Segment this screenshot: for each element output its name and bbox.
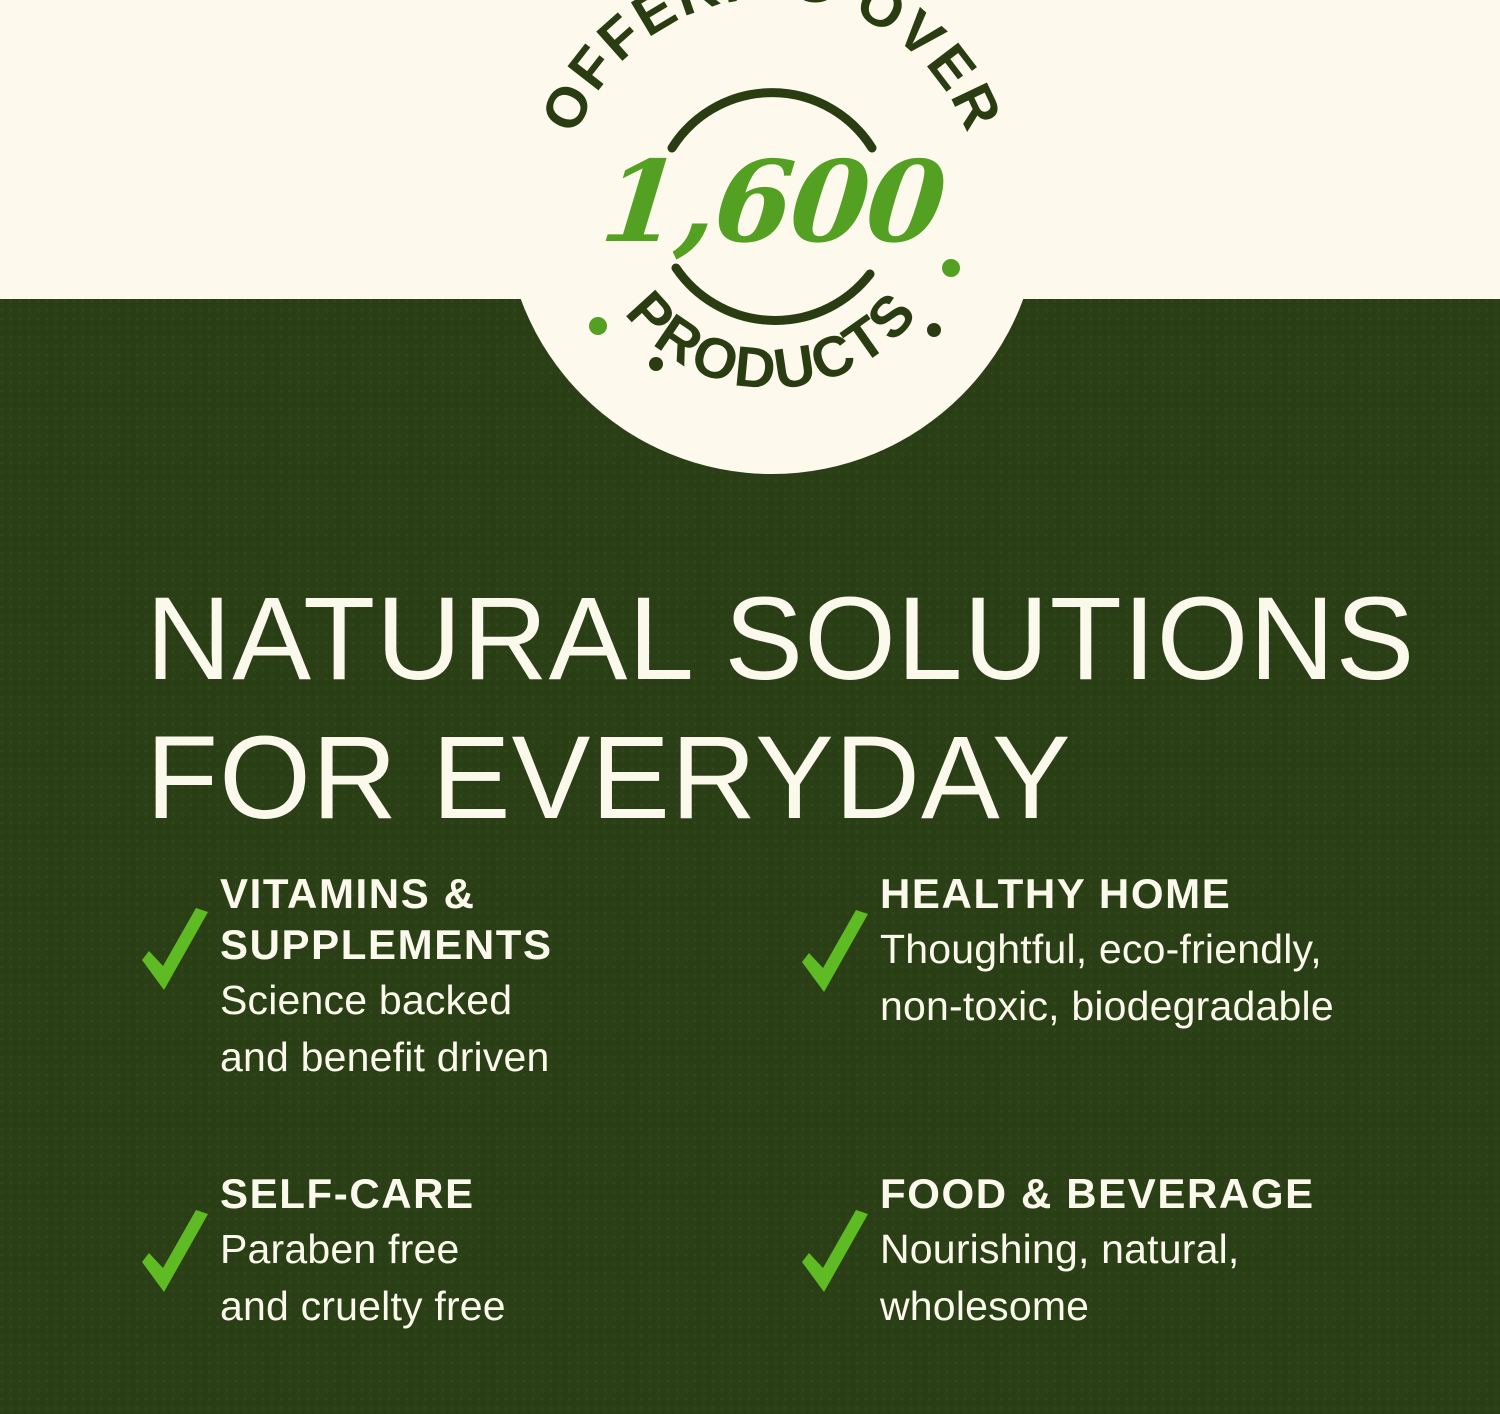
feature-desc-line-2: and benefit driven (220, 1029, 785, 1086)
feature-title-line-1: HEALTHY HOME (880, 870, 1231, 917)
feature-title-line-1: SELF-CARE (220, 1170, 475, 1217)
feature-description: Thoughtful, eco-friendly, non-toxic, bio… (880, 921, 1470, 1034)
feature-desc-line-1: Science backed (220, 972, 785, 1029)
feature-description: Science backed and benefit driven (220, 972, 785, 1085)
check-icon (798, 1208, 872, 1304)
feature-desc-line-2: and cruelty free (220, 1278, 785, 1335)
feature-item-vitamins-supplements: VITAMINS & SUPPLEMENTS Science backed an… (130, 862, 785, 1162)
feature-title: SELF-CARE (220, 1168, 785, 1219)
feature-title: HEALTHY HOME (880, 868, 1470, 919)
headline-line-2: FOR EVERYDAY (146, 709, 1406, 848)
feature-description: Paraben free and cruelty free (220, 1221, 785, 1334)
promo-poster: OFFERING OVER PRODUCTS 1,600 NATURAL SOL… (0, 0, 1500, 1414)
headline-line-1: NATURAL SOLUTIONS (146, 570, 1406, 709)
feature-desc-line-1: Thoughtful, eco-friendly, (880, 921, 1470, 978)
feature-desc-line-2: wholesome (880, 1278, 1470, 1335)
feature-desc-line-2: non-toxic, biodegradable (880, 978, 1470, 1035)
feature-description: Nourishing, natural, wholesome (880, 1221, 1470, 1334)
feature-grid: VITAMINS & SUPPLEMENTS Science backed an… (130, 862, 1470, 1334)
feature-text-block: SELF-CARE Paraben free and cruelty free (220, 1162, 785, 1334)
badge-number-wrap: 1,600 (504, 0, 1040, 474)
feature-text-block: VITAMINS & SUPPLEMENTS Science backed an… (220, 862, 785, 1086)
feature-item-self-care: SELF-CARE Paraben free and cruelty free (130, 1162, 785, 1334)
check-icon (138, 1208, 212, 1304)
feature-text-block: FOOD & BEVERAGE Nourishing, natural, who… (880, 1162, 1470, 1334)
page-title: NATURAL SOLUTIONS FOR EVERYDAY (146, 570, 1406, 848)
feature-title-line-1: VITAMINS & (220, 870, 476, 917)
feature-text-block: HEALTHY HOME Thoughtful, eco-friendly, n… (880, 862, 1470, 1034)
feature-desc-line-1: Nourishing, natural, (880, 1221, 1470, 1278)
feature-desc-line-1: Paraben free (220, 1221, 785, 1278)
feature-title-line-1: FOOD & BEVERAGE (880, 1170, 1315, 1217)
feature-item-healthy-home: HEALTHY HOME Thoughtful, eco-friendly, n… (790, 862, 1470, 1162)
feature-item-food-beverage: FOOD & BEVERAGE Nourishing, natural, who… (790, 1162, 1470, 1334)
feature-title-line-2: SUPPLEMENTS (220, 921, 553, 968)
check-icon (138, 906, 212, 1002)
badge-product-count: 1,600 (595, 137, 949, 268)
check-icon (798, 908, 872, 1004)
feature-title: FOOD & BEVERAGE (880, 1168, 1470, 1219)
feature-title: VITAMINS & SUPPLEMENTS (220, 868, 785, 970)
